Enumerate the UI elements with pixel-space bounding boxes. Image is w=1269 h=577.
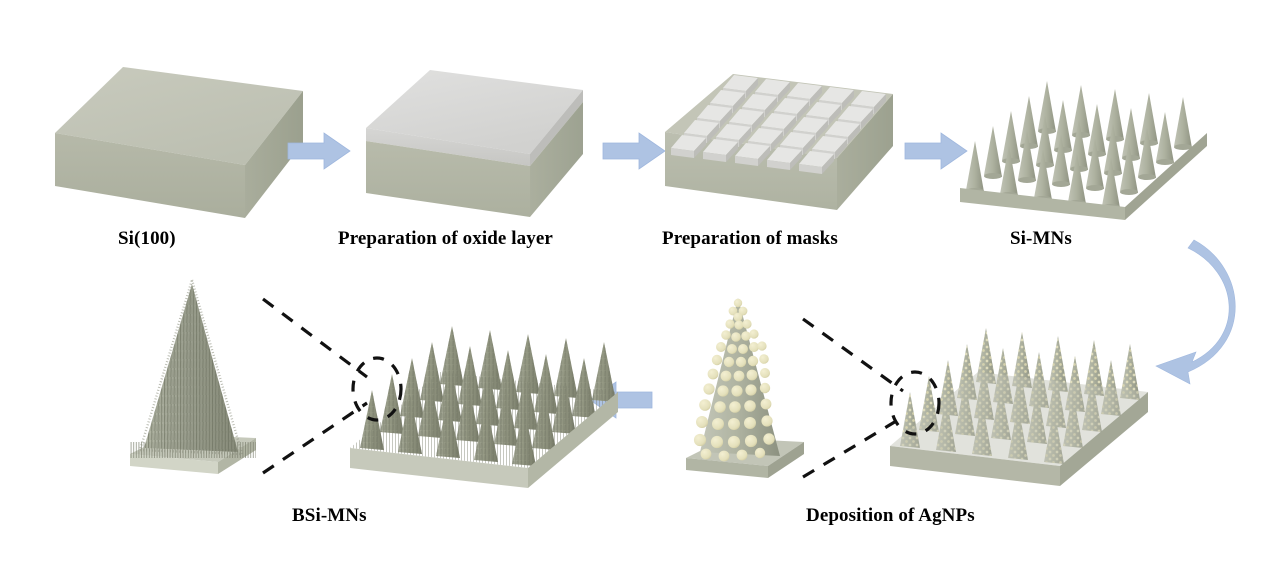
caption-oxide-layer: Preparation of oxide layer bbox=[338, 228, 553, 250]
stage-si-mns bbox=[955, 55, 1220, 220]
inset-bsi-cone bbox=[122, 278, 272, 488]
oxide-layer-illustration bbox=[348, 62, 593, 222]
callout-agnp-inset bbox=[795, 305, 955, 485]
arrow-right-icon bbox=[288, 133, 350, 169]
callout-line-upper bbox=[803, 319, 903, 391]
stage-si100 bbox=[55, 55, 305, 220]
si-mns-illustration bbox=[955, 55, 1220, 220]
si100-illustration bbox=[55, 55, 305, 220]
caption-masks: Preparation of masks bbox=[662, 228, 838, 250]
caption-si-mns: Si-MNs bbox=[1010, 228, 1072, 250]
inset-agnp-cone bbox=[676, 290, 816, 490]
arrow-step1-to-step2 bbox=[288, 133, 352, 169]
stage-masks bbox=[655, 62, 900, 222]
mask-array-illustration bbox=[655, 62, 900, 222]
caption-agnp: Deposition of AgNPs bbox=[806, 505, 975, 527]
callout-circle bbox=[353, 358, 401, 420]
bsi-single-cone-illustration bbox=[122, 278, 272, 488]
caption-bsi-mns: BSi-MNs bbox=[292, 505, 367, 527]
agnp-single-cone-illustration bbox=[676, 290, 816, 490]
arrow-step4-to-step5-curved bbox=[1150, 240, 1260, 385]
callout-line-lower bbox=[803, 417, 903, 477]
inset-cone-nanograss bbox=[144, 284, 238, 452]
callout-circle bbox=[891, 372, 939, 434]
figure-canvas: Si(100) bbox=[0, 0, 1269, 577]
callout-line-lower bbox=[263, 403, 367, 473]
curved-arrow-icon bbox=[1156, 240, 1235, 384]
callout-line-upper bbox=[263, 299, 367, 377]
caption-si100: Si(100) bbox=[118, 228, 176, 250]
stage-oxide bbox=[348, 62, 593, 222]
callout-bsi-inset bbox=[255, 285, 415, 480]
